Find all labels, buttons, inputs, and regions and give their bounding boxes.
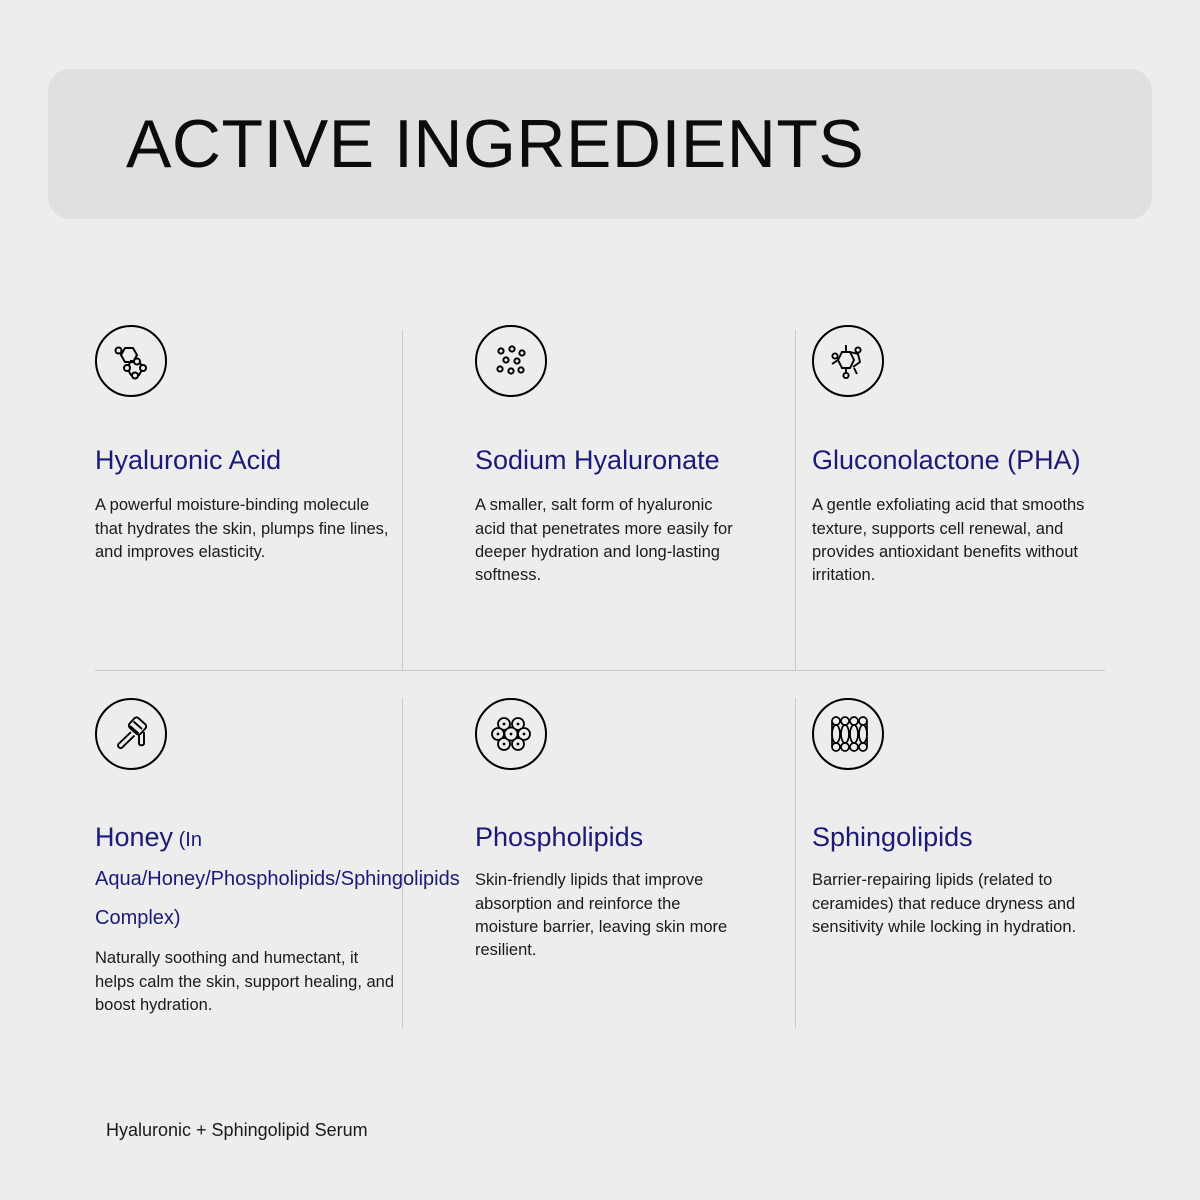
- ingredient-name-main: Hyaluronic Acid: [95, 445, 281, 475]
- ingredient-card-sodium-hyaluronate: Sodium Hyaluronate A smaller, salt form …: [431, 325, 767, 670]
- ingredient-name-main: Sodium Hyaluronate: [475, 445, 720, 475]
- ingredient-card-hyaluronic-acid: Hyaluronic Acid A powerful moisture-bind…: [95, 325, 431, 670]
- ingredient-description: A smaller, salt form of hyaluronic acid …: [475, 494, 737, 588]
- ingredient-card-gluconolactone: Gluconolactone (PHA) A gentle exfoliatin…: [767, 325, 1103, 670]
- ingredient-card-honey: Honey (In Aqua/Honey/Phospholipids/Sphin…: [95, 698, 431, 1033]
- ingredient-card-sphingolipids: Sphingolipids Barrier-repairing lipids (…: [767, 698, 1103, 1033]
- ingredient-description: A powerful moisture-binding molecule tha…: [95, 494, 395, 564]
- ingredient-name-main: Honey: [95, 822, 173, 852]
- ingredient-card-phospholipids: Phospholipids Skin-friendly lipids that …: [431, 698, 767, 1033]
- ingredients-row-1: Hyaluronic Acid A powerful moisture-bind…: [95, 325, 1105, 670]
- gluconolactone-molecule-icon: [812, 325, 884, 397]
- ingredient-name: Sodium Hyaluronate: [475, 441, 737, 480]
- ingredient-name: Hyaluronic Acid: [95, 441, 395, 480]
- row-divider: [95, 670, 1105, 671]
- lipid-cluster-icon: [475, 698, 547, 770]
- page-title: ACTIVE INGREDIENTS: [126, 110, 864, 178]
- header-banner: ACTIVE INGREDIENTS: [48, 69, 1152, 219]
- ingredient-description: Naturally soothing and humectant, it hel…: [95, 947, 395, 1017]
- molecule-hexagons-icon: [95, 325, 167, 397]
- ingredient-name-main: Sphingolipids: [812, 822, 973, 852]
- ingredient-name: Phospholipids: [475, 818, 737, 857]
- ingredient-name: Sphingolipids: [812, 818, 1093, 857]
- salt-crystals-dots-icon: [475, 325, 547, 397]
- ingredients-infographic: ACTIVE INGREDIENTS: [0, 0, 1200, 1200]
- ingredient-description: Barrier-repairing lipids (related to cer…: [812, 869, 1082, 939]
- ingredient-name: Honey (In Aqua/Honey/Phospholipids/Sphin…: [95, 818, 395, 935]
- ingredient-name: Gluconolactone (PHA): [812, 441, 1093, 480]
- ingredients-grid: Hyaluronic Acid A powerful moisture-bind…: [95, 325, 1105, 1005]
- footer-caption: Hyaluronic + Sphingolipid Serum: [106, 1120, 368, 1141]
- ingredient-name-main: Gluconolactone (PHA): [812, 445, 1081, 475]
- ingredients-row-2: Honey (In Aqua/Honey/Phospholipids/Sphin…: [95, 698, 1105, 1033]
- lipid-bilayer-icon: [812, 698, 884, 770]
- ingredient-description: A gentle exfoliating acid that smooths t…: [812, 494, 1092, 588]
- ingredient-name-main: Phospholipids: [475, 822, 643, 852]
- honey-dipper-icon: [95, 698, 167, 770]
- ingredient-description: Skin-friendly lipids that improve absorp…: [475, 869, 737, 963]
